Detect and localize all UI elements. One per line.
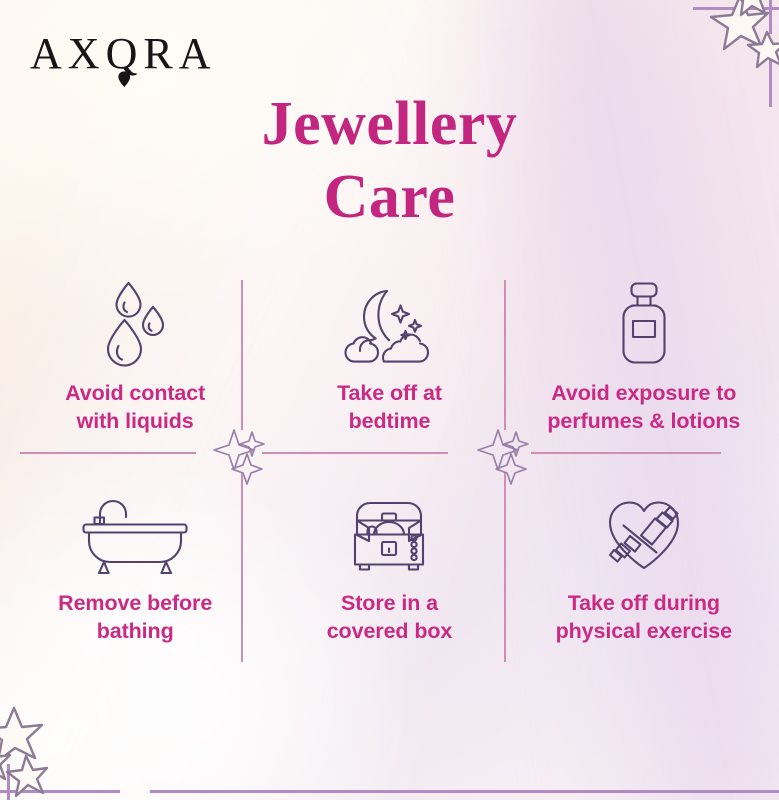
frame-line-top-right-horizontal bbox=[693, 7, 779, 10]
care-tip-label: Store in a covered box bbox=[327, 590, 453, 645]
care-tip-label: Take off at bedtime bbox=[337, 380, 442, 435]
bathtub-icon bbox=[80, 486, 190, 582]
page-title: Jewellery Care bbox=[0, 88, 779, 234]
frame-line-bottom-left-horizontal bbox=[0, 790, 120, 793]
care-tip-remove-before-bathing[interactable]: Remove before bathing bbox=[8, 472, 262, 682]
water-drops-icon bbox=[98, 276, 172, 372]
care-tips-grid: Avoid contact with liquids Take off bbox=[8, 262, 771, 682]
care-tip-physical-exercise[interactable]: Take off during physical exercise bbox=[517, 472, 771, 682]
frame-line-top-right-vertical-upper bbox=[769, 0, 772, 34]
frame-line-bottom-horizontal bbox=[150, 790, 779, 793]
care-tip-avoid-perfumes[interactable]: Avoid exposure to perfumes & lotions bbox=[517, 262, 771, 472]
jewellery-care-poster: AXQRA Jewellery Care bbox=[0, 0, 779, 800]
page-title-line2: Care bbox=[0, 161, 779, 234]
five-point-stars-icon bbox=[0, 700, 92, 800]
five-point-stars-icon bbox=[691, 0, 779, 90]
diamond-gem-icon bbox=[118, 71, 131, 87]
perfume-bottle-icon bbox=[611, 276, 677, 372]
care-tip-label: Take off during physical exercise bbox=[556, 590, 732, 645]
care-tip-bedtime[interactable]: Take off at bedtime bbox=[262, 262, 516, 472]
page-title-line1: Jewellery bbox=[262, 90, 518, 158]
care-tip-avoid-liquids[interactable]: Avoid contact with liquids bbox=[8, 262, 262, 472]
heart-dumbbell-icon bbox=[596, 486, 692, 582]
brand-logo[interactable]: AXQRA bbox=[30, 32, 216, 76]
jewellery-box-icon bbox=[343, 486, 435, 582]
brand-logo-text: AXQRA bbox=[30, 32, 216, 76]
moon-stars-clouds-icon bbox=[343, 276, 435, 372]
care-tip-label: Remove before bathing bbox=[58, 590, 212, 645]
care-tip-label: Avoid contact with liquids bbox=[65, 380, 205, 435]
care-tip-store-covered-box[interactable]: Store in a covered box bbox=[262, 472, 516, 682]
frame-line-bottom-left-vertical bbox=[7, 764, 10, 800]
care-tip-label: Avoid exposure to perfumes & lotions bbox=[547, 380, 740, 435]
